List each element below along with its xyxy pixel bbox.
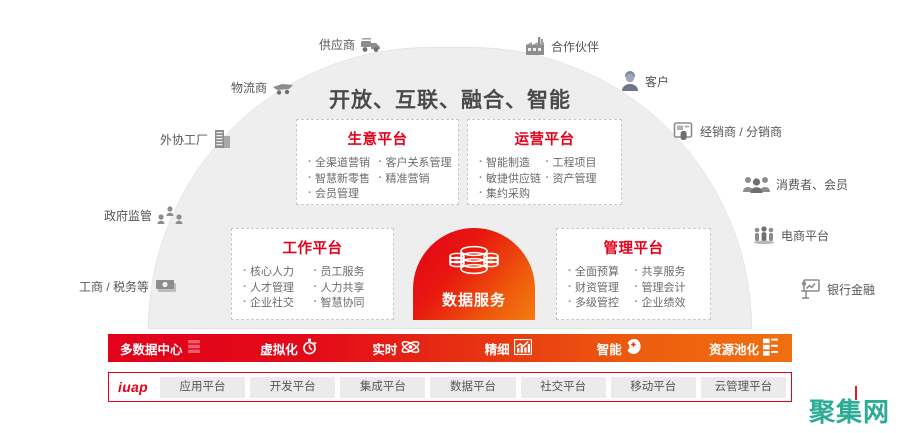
card-item: 员工服务: [313, 265, 384, 281]
iuap-item-development[interactable]: 开发平台: [250, 377, 335, 398]
people-network-icon: [157, 205, 183, 225]
card-work-platform[interactable]: 工作平台 核心人力 员工服务 人才管理 人力共享 企业社交 智慧协同: [231, 228, 394, 320]
card-item: 企业社交: [242, 296, 313, 312]
card-item: 全渠道营销: [307, 156, 378, 172]
watermark: 聚集网: [809, 392, 890, 429]
capability-label: 智能: [597, 339, 622, 358]
infographic-canvas: 开放、互联、融合、智能 供应商 物流商 外协工厂 政府监管 工商 / 税务等: [0, 0, 900, 433]
card-operation-items: 智能制造 工程项目 敏捷供应链 资产管理 集约采购: [478, 156, 611, 203]
bank-chart-icon: [800, 278, 822, 300]
eco-label-dealer: 经销商 / 分销商: [673, 121, 782, 141]
card-item: 核心人力: [242, 265, 313, 281]
card-item: 会员管理: [307, 187, 378, 203]
iuap-platform-row: iuap 应用平台 开发平台 集成平台 数据平台 社交平台 移动平台 云管理平台: [108, 372, 792, 402]
brain-icon: [626, 338, 643, 358]
eco-label-government: 政府监管: [104, 205, 183, 225]
card-work-title: 工作平台: [242, 237, 383, 258]
eco-label-consumer: 消费者、会员: [743, 174, 848, 194]
card-management-items: 全面预算 共享服务 财资管理 管理会计 多级管控 企业绩效: [567, 265, 700, 312]
card-business-items: 全渠道营销 客户关系管理 智慧新零售 精准营销 会员管理: [307, 156, 448, 203]
eco-bank-text: 银行金融: [827, 281, 875, 298]
person-icon: [620, 70, 640, 92]
group-people-icon: [743, 174, 771, 194]
delivery-truck-icon: [272, 80, 294, 96]
card-item: 敏捷供应链: [478, 172, 545, 188]
card-operation-platform[interactable]: 运营平台 智能制造 工程项目 敏捷供应链 资产管理 集约采购: [467, 119, 622, 205]
iuap-item-social[interactable]: 社交平台: [521, 377, 606, 398]
eco-partner-text: 合作伙伴: [551, 38, 599, 55]
eco-label-bank: 银行金融: [800, 278, 875, 300]
watermark-text: 聚集网: [809, 397, 890, 427]
capability-label: 多数据中心: [120, 339, 183, 358]
card-item: 多级管控: [567, 296, 634, 312]
data-service-label: 数据服务: [442, 289, 506, 310]
eco-label-supplier: 供应商: [319, 36, 382, 53]
capability-item-realtime[interactable]: 实时: [372, 339, 484, 358]
eco-tax-text: 工商 / 税务等: [79, 278, 149, 295]
bar-chart-icon: [514, 339, 532, 358]
touch-screen-icon: [673, 121, 695, 141]
capability-label: 精细: [485, 339, 510, 358]
eco-dealer-text: 经销商 / 分销商: [700, 123, 782, 140]
card-business-title: 生意平台: [307, 128, 448, 149]
card-item: 共享服务: [634, 265, 701, 281]
building-icon: [213, 128, 233, 150]
iuap-logo: iuap: [114, 379, 155, 395]
iuap-item-application[interactable]: 应用平台: [160, 377, 245, 398]
capability-label: 实时: [372, 339, 397, 358]
watermark-tick: [855, 386, 857, 400]
eco-customer-text: 客户: [645, 73, 669, 90]
capability-label: 虚拟化: [260, 339, 298, 358]
capability-bar: 多数据中心 虚拟化 实时 精细 智能: [108, 334, 792, 362]
iuap-item-data[interactable]: 数据平台: [430, 377, 515, 398]
card-item: 工程项目: [545, 156, 612, 172]
card-work-items: 核心人力 员工服务 人才管理 人力共享 企业社交 智慧协同: [242, 265, 383, 312]
iuap-item-mobile[interactable]: 移动平台: [611, 377, 696, 398]
eco-consumer-text: 消费者、会员: [776, 176, 848, 193]
card-item: 人力共享: [313, 281, 384, 297]
card-item: 企业绩效: [634, 296, 701, 312]
card-item: 管理会计: [634, 281, 701, 297]
capability-item-resource-pooling[interactable]: 资源池化: [709, 338, 780, 359]
card-management-platform[interactable]: 管理平台 全面预算 共享服务 财资管理 管理会计 多级管控 企业绩效: [556, 228, 711, 320]
card-operation-title: 运营平台: [478, 128, 611, 149]
card-item: 客户关系管理: [378, 156, 449, 172]
capability-label: 资源池化: [709, 339, 759, 358]
factory-icon: [524, 36, 546, 56]
server-rack-icon: [763, 338, 780, 359]
eco-label-logistics: 物流商: [231, 79, 294, 96]
atom-icon: [401, 339, 420, 358]
iuap-item-cloud-management[interactable]: 云管理平台: [701, 377, 786, 398]
eco-logistics-text: 物流商: [231, 79, 267, 96]
money-icon: [154, 277, 180, 295]
eco-label-partner: 合作伙伴: [524, 36, 599, 56]
database-stack-icon: [445, 242, 503, 285]
eco-supplier-text: 供应商: [319, 36, 355, 53]
eco-ecommerce-text: 电商平台: [781, 227, 829, 244]
crowd-icon: [752, 225, 776, 245]
card-item: 资产管理: [545, 172, 612, 188]
card-item: 智慧新零售: [307, 172, 378, 188]
eco-label-tax: 工商 / 税务等: [79, 277, 180, 295]
card-item: 人才管理: [242, 281, 313, 297]
card-item: 精准营销: [378, 172, 449, 188]
eco-government-text: 政府监管: [104, 207, 152, 224]
capability-item-fine-grained[interactable]: 精细: [485, 339, 597, 358]
card-item: 集约采购: [478, 187, 545, 203]
card-item: 智慧协同: [313, 296, 384, 312]
card-item: 财资管理: [567, 281, 634, 297]
stopwatch-icon: [302, 338, 317, 358]
card-item: 智能制造: [478, 156, 545, 172]
eco-outsourced-factory-text: 外协工厂: [160, 131, 208, 148]
truck-icon: [360, 37, 382, 53]
datacenter-icon: [187, 339, 201, 357]
capability-item-intelligent[interactable]: 智能: [597, 338, 709, 358]
eco-label-ecommerce: 电商平台: [752, 225, 829, 245]
card-business-platform[interactable]: 生意平台 全渠道营销 客户关系管理 智慧新零售 精准营销 会员管理: [296, 119, 459, 205]
capability-item-datacenter[interactable]: 多数据中心: [120, 339, 260, 358]
card-management-title: 管理平台: [567, 237, 700, 258]
eco-label-customer: 客户: [620, 70, 669, 92]
eco-label-factory-partner: 外协工厂: [160, 128, 233, 150]
capability-item-virtualization[interactable]: 虚拟化: [260, 338, 372, 358]
iuap-item-integration[interactable]: 集成平台: [340, 377, 425, 398]
card-item: 全面预算: [567, 265, 634, 281]
